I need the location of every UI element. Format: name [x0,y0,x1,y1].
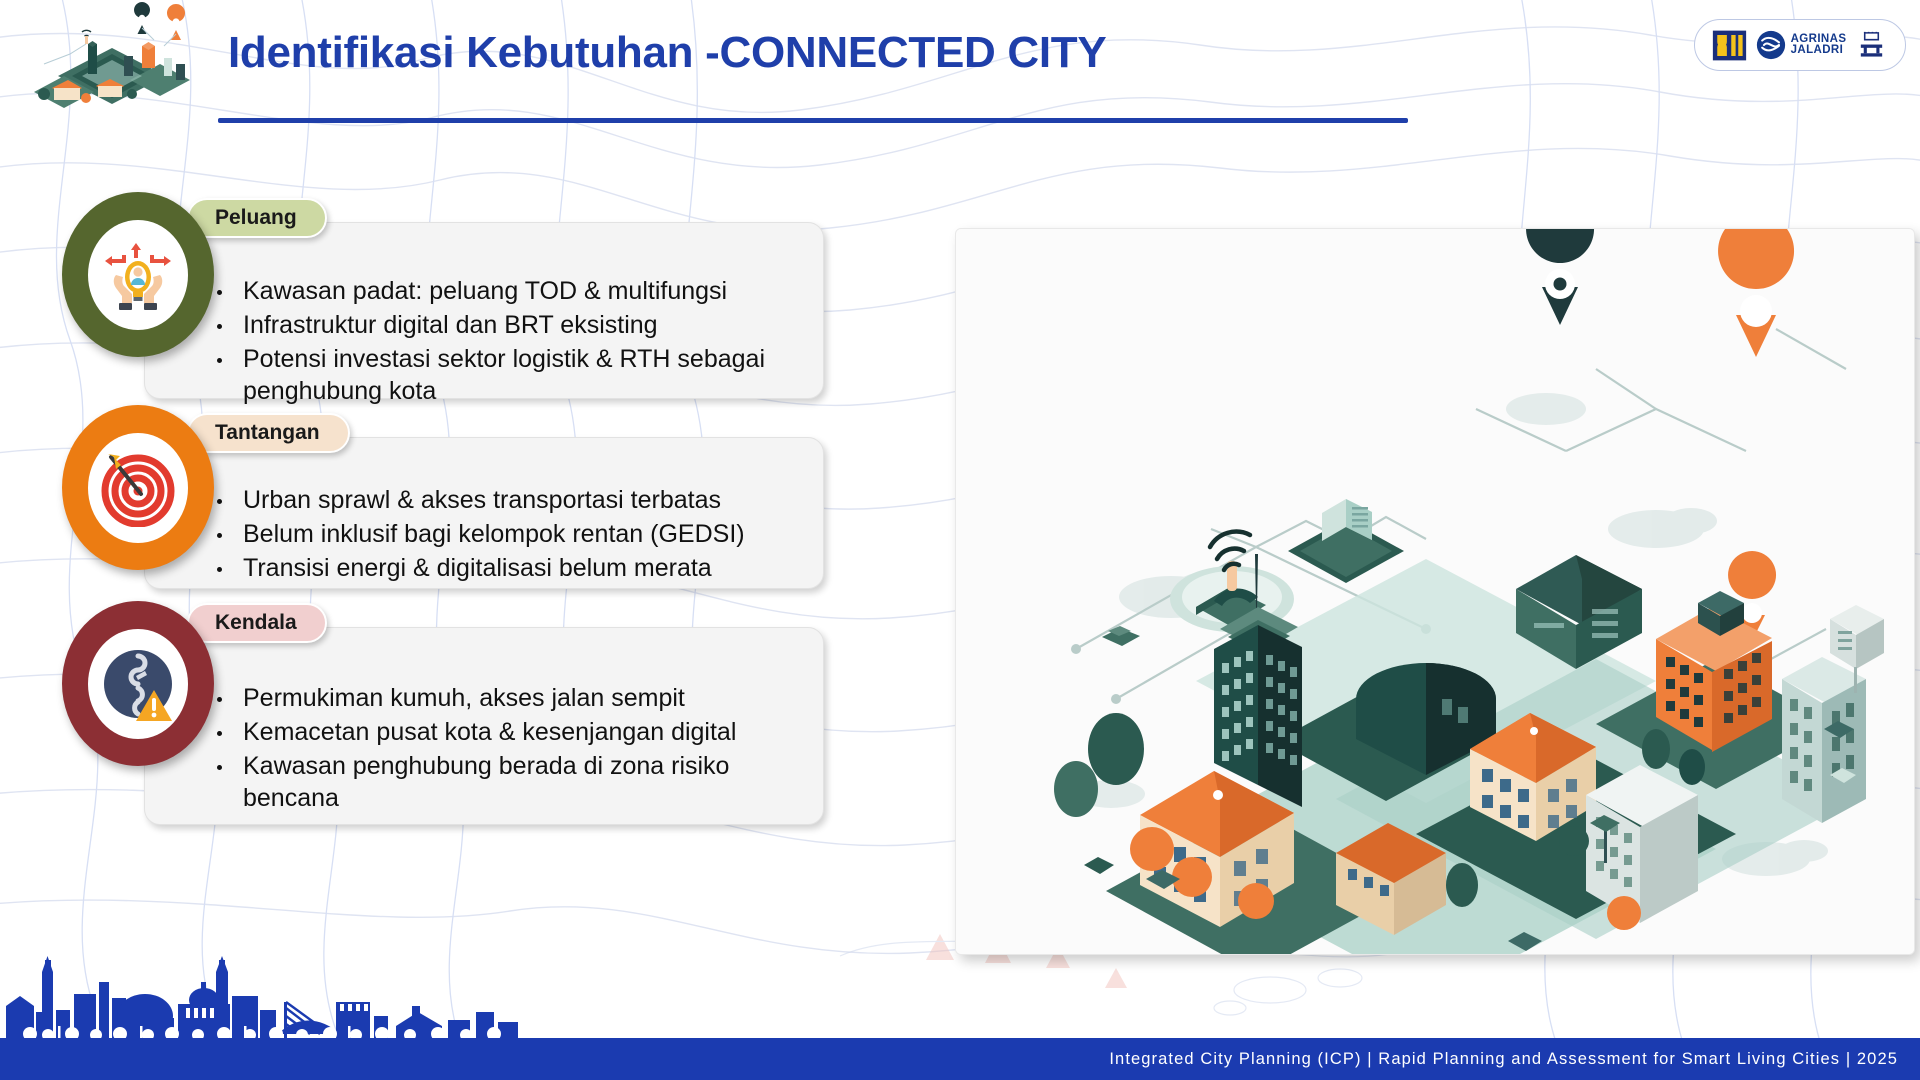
list-item: Belum inklusif bagi kelompok rentan (GED… [203,518,803,550]
tantangan-card: Urban sprawl & akses transportasi terbat… [144,437,824,589]
kendala-icon-ring [62,601,214,766]
agrinas-jaladri-logo: AGRINAS JALADRI [1756,30,1847,60]
tantangan-bullet-list: Urban sprawl & akses transportasi terbat… [145,438,823,586]
connected-city-scene [956,229,1915,955]
footer-text: Integrated City Planning (ICP) | Rapid P… [1109,1050,1898,1069]
tantangan-icon-ring [62,405,214,570]
light-tower-right [1782,657,1866,823]
peluang-badge: Peluang [187,198,327,238]
lightbulb-hands-opportunity-icon [102,237,174,313]
peluang-card: Kawasan padat: peluang TOD & multifungsi… [144,222,824,399]
needs-identification-panel: Kawasan padat: peluang TOD & multifungsi… [0,0,940,1080]
peluang-icon-ring [62,192,214,357]
footer-bar: Integrated City Planning (ICP) | Rapid P… [0,1038,1920,1080]
peluang-bullet-list: Kawasan padat: peluang TOD & multifungsi… [145,223,823,409]
icp-logo [1855,29,1888,62]
logo-bar: AGRINAS JALADRI [1694,19,1906,71]
badge-label: Tantangan [215,421,320,445]
tantangan-badge: Tantangan [187,413,350,453]
list-item: Urban sprawl & akses transportasi terbat… [203,484,803,516]
list-item: Infrastruktur digital dan BRT eksisting [203,309,803,341]
city-skyline-silhouette [0,938,520,1038]
agrinas-emblem-icon [1756,30,1786,60]
list-item: Kawasan penghubung berada di zona risiko… [203,750,803,814]
badge-label: Peluang [215,206,297,230]
list-item: Transisi energi & digitalisasi belum mer… [203,552,803,584]
list-item: Kawasan padat: peluang TOD & multifungsi [203,275,803,307]
kendala-bullet-list: Permukiman kumuh, akses jalan sempit Kem… [145,628,823,816]
kendala-badge: Kendala [187,603,327,643]
broken-chain-warning-obstacle-icon [96,642,180,726]
list-item: Kemacetan pusat kota & kesenjangan digit… [203,716,803,748]
kendala-card: Permukiman kumuh, akses jalan sempit Kem… [144,627,824,825]
white-office-block [1586,765,1698,923]
list-item: Permukiman kumuh, akses jalan sempit [203,682,803,714]
agrinas-line-2: JALADRI [1791,45,1847,56]
target-dartboard-challenge-icon [99,449,177,527]
isometric-connected-city-illustration [955,228,1915,955]
list-item: Potensi investasi sektor logistik & RTH … [203,343,803,407]
badge-label: Kendala [215,611,297,635]
pu-ministry-logo [1712,28,1747,63]
